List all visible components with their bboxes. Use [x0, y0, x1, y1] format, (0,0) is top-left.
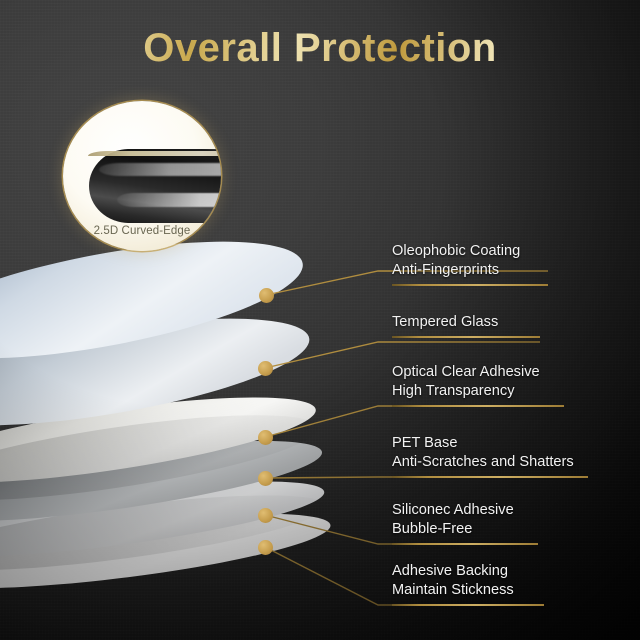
- product-infographic: 2.5D Curved-Edge Overall Protection Oleo…: [0, 0, 640, 640]
- callout-dot-pet-base[interactable]: [258, 471, 273, 486]
- curved-edge-caption: 2.5D Curved-Edge: [63, 225, 221, 237]
- callout-line-2: Anti-Scratches and Shatters: [392, 453, 588, 472]
- callout-label-siliconec-adhesive: Siliconec Adhesive Bubble-Free: [392, 501, 538, 545]
- callout-line-2: Maintain Stickness: [392, 581, 544, 600]
- callout-dot-adhesive-backing[interactable]: [258, 540, 273, 555]
- callout-label-optical-clear-adhesive: Optical Clear Adhesive High Transparency: [392, 363, 564, 407]
- callout-label-oleophobic-coating: Oleophobic Coating Anti-Fingerprints: [392, 242, 548, 286]
- callout-line-1: Oleophobic Coating: [392, 242, 548, 261]
- phone-edge-highlight-2: [117, 193, 221, 207]
- callout-line-1: Tempered Glass: [392, 313, 540, 332]
- callout-underline: [392, 543, 538, 545]
- curved-edge-callout: 2.5D Curved-Edge: [63, 101, 221, 251]
- callout-line-1: Siliconec Adhesive: [392, 501, 538, 520]
- callout-dot-oleophobic-coating[interactable]: [259, 288, 274, 303]
- phone-edge-highlight: [99, 163, 221, 176]
- callout-underline: [392, 476, 588, 478]
- callout-line-2: High Transparency: [392, 382, 564, 401]
- page-title: Overall Protection: [0, 26, 640, 71]
- callout-dot-optical-clear-adhesive[interactable]: [258, 430, 273, 445]
- callout-line-1: PET Base: [392, 434, 588, 453]
- callout-label-adhesive-backing: Adhesive Backing Maintain Stickness: [392, 562, 544, 606]
- callout-underline: [392, 336, 540, 338]
- callout-line-1: Adhesive Backing: [392, 562, 544, 581]
- callout-underline: [392, 405, 564, 407]
- callout-label-pet-base: PET Base Anti-Scratches and Shatters: [392, 434, 588, 478]
- callout-underline: [392, 284, 548, 286]
- callout-line-2: Bubble-Free: [392, 520, 538, 539]
- phone-edge-illustration: [89, 149, 221, 223]
- callout-dot-tempered-glass[interactable]: [258, 361, 273, 376]
- callout-label-tempered-glass: Tempered Glass: [392, 313, 540, 338]
- callout-line-1: Optical Clear Adhesive: [392, 363, 564, 382]
- vignette-overlay: [0, 0, 640, 640]
- callout-underline: [392, 604, 544, 606]
- callout-line-2: Anti-Fingerprints: [392, 261, 548, 280]
- callout-dot-siliconec-adhesive[interactable]: [258, 508, 273, 523]
